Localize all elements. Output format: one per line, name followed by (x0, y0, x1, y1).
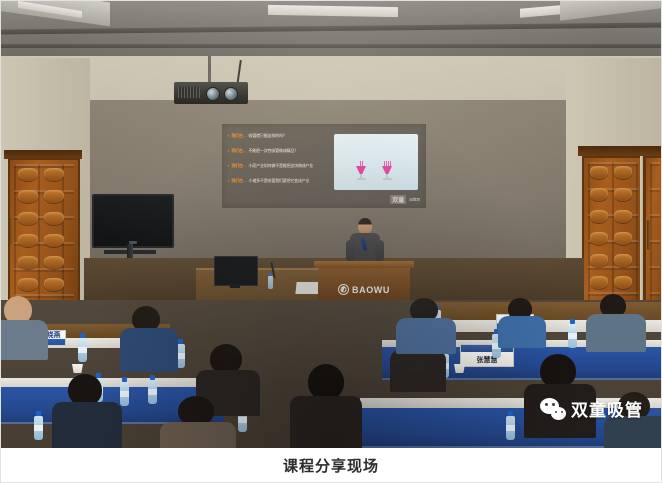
door-left-pill-11 (18, 278, 38, 291)
person-1-body (0, 320, 48, 360)
person-6-body (396, 318, 456, 354)
door-right-pill-12 (614, 276, 632, 289)
conference-room-photo: › 我们在… 吸管就只能这样的吗？ › 我们在… 不能把一次性吸管做成精品？ ›… (0, 0, 662, 448)
drink-cup-single (356, 166, 366, 174)
drink-glass-multi (382, 166, 392, 180)
audience-person-10 (52, 374, 120, 448)
wechat-eye-2 (552, 403, 555, 406)
bullet-tag-1: 我们在… (231, 133, 246, 139)
bullet-arrow-icon-3: › (228, 163, 229, 169)
projection-screen: › 我们在… 吸管就只能这样的吗？ › 我们在… 不能把一次性吸管做成精品？ ›… (222, 124, 426, 208)
speaker-arm-right (375, 240, 384, 262)
door-left-pill-1 (18, 168, 38, 181)
paper-cup-2 (454, 364, 465, 373)
slide-logo-shuangtong: 双童 (390, 195, 406, 204)
door-left-pill-8 (44, 234, 64, 247)
person-9-head (540, 354, 576, 388)
ceiling-projector (174, 82, 248, 104)
ceiling-panel-right (560, 0, 662, 21)
door-left[interactable] (8, 158, 80, 312)
projector-lens-right (224, 87, 238, 101)
wechat-bubble-small (551, 407, 566, 420)
door-right-pill-4 (614, 188, 632, 201)
person-11-body (160, 422, 236, 448)
person-4-body (290, 396, 362, 448)
slide-bullet-4: › 我们在… 小诸多不是吸管我们要把它变成产业 (228, 178, 309, 184)
door-right-pill-6 (614, 210, 632, 223)
person-7-body (498, 316, 546, 348)
door-right-pill-1 (590, 166, 608, 179)
figure-caption-band: 课程分享现场 (0, 448, 662, 483)
water-bottle-6 (120, 382, 129, 406)
door-left-pill-4 (44, 190, 64, 203)
person-8-body (586, 314, 646, 352)
bullet-tag-3: 我们在… (231, 163, 246, 169)
water-bottle-12 (568, 324, 577, 348)
door-right-leaf-2[interactable] (644, 156, 662, 316)
water-bottle-1 (78, 338, 87, 362)
audience-area: 周伟 周伟 张慧慧 李晓燕 王敏 (0, 300, 662, 448)
drink-base-multi (383, 178, 392, 180)
audience-person-11 (160, 396, 234, 448)
door-right-leaf-1[interactable] (582, 156, 644, 316)
desk-monitor (214, 256, 258, 286)
desk-monitor-stand (230, 284, 240, 288)
podium-brand-text: BAOWU (352, 285, 390, 295)
ceiling-beam-2 (0, 44, 662, 48)
ceiling (0, 0, 662, 58)
water-bottle-14 (506, 416, 515, 440)
slide-bullet-2: › 我们在… 不能把一次性吸管做成精品？ (228, 148, 298, 154)
projector-vents (178, 87, 200, 98)
bullet-tag-4: 我们在… (231, 178, 246, 184)
audience-person-4 (290, 364, 360, 448)
bullet-arrow-icon-1: › (228, 133, 229, 139)
water-bottle-7 (148, 380, 157, 404)
bullet-text-3: 小而产业如何做不是能把这块做成产业 (249, 163, 314, 169)
bullet-text-1: 吸管就只能这样的吗？ (249, 133, 287, 139)
audience-person-2 (120, 306, 176, 368)
podium-top-surface (314, 261, 414, 268)
slide-logo-soton: soton (409, 197, 420, 203)
drink-cup-multi (382, 166, 392, 174)
audience-person-8 (588, 294, 644, 346)
door-right-gap (640, 156, 643, 312)
door-right-pill-3 (590, 188, 608, 201)
person-5-body (390, 350, 446, 392)
person-10-body (52, 402, 122, 448)
watermark-text: 双童吸管 (571, 396, 643, 421)
bullet-tag-2: 我们在… (231, 148, 246, 154)
drink-base-single (357, 178, 366, 180)
audience-person-6 (398, 298, 456, 348)
door-left-pill-6 (44, 212, 64, 225)
slide-logo-group: 双童 soton (390, 195, 420, 204)
audience-person-7 (498, 298, 546, 342)
drink-glass-single (356, 166, 366, 180)
bullet-arrow-icon-4: › (228, 178, 229, 184)
slide-bullet-1: › 我们在… 吸管就只能这样的吗？ (228, 133, 287, 139)
wechat-watermark: 双童吸管 (540, 396, 643, 421)
audience-person-1 (0, 296, 48, 356)
article-figure-block: › 我们在… 吸管就只能这样的吗？ › 我们在… 不能把一次性吸管做成精品？ ›… (0, 0, 662, 483)
door-right-pill-10 (614, 254, 632, 267)
door-right-pill-2 (614, 166, 632, 179)
bullet-text-4: 小诸多不是吸管我们要把它变成产业 (249, 178, 310, 184)
person-4-head (308, 364, 344, 400)
door-right2-panel-texture (650, 162, 660, 310)
door-left-pill-3 (18, 190, 38, 203)
door-left-pill-7 (18, 234, 38, 247)
speaker-arm-left (346, 240, 355, 262)
baowu-logo-icon (338, 284, 349, 295)
water-bottle-15 (34, 416, 43, 440)
bullet-arrow-icon-2: › (228, 148, 229, 154)
ceiling-light-strip-2 (268, 5, 398, 17)
door-left-handle[interactable] (9, 218, 12, 244)
wechat-eye-3 (555, 411, 557, 413)
door-right-pill-5 (590, 210, 608, 223)
door-frame-right (578, 146, 662, 156)
figure-caption: 课程分享现场 (283, 455, 379, 476)
projector-mount-pipe (208, 56, 211, 84)
wechat-icon (540, 398, 566, 420)
speaker-head (358, 218, 372, 234)
door-right-handle[interactable] (647, 220, 650, 250)
door-left-pill-9 (18, 256, 38, 269)
paper-cup-1 (72, 364, 83, 373)
door-left-pill-2 (44, 168, 64, 181)
door-right-pill-8 (614, 232, 632, 245)
person-2-body (120, 328, 178, 372)
wechat-eye-4 (561, 411, 563, 413)
projector-lens-left (206, 87, 220, 101)
wechat-eye-1 (545, 403, 548, 406)
door-right-pill-9 (590, 254, 608, 267)
door-right-pill-7 (590, 232, 608, 245)
door-left-pill-12 (44, 278, 64, 291)
podium-brand: BAOWU (318, 284, 410, 295)
door-left-pill-10 (44, 256, 64, 269)
door-left-pill-5 (18, 212, 38, 225)
desk-water-bottle (268, 276, 273, 289)
bullet-text-2: 不能把一次性吸管做成精品？ (249, 148, 298, 154)
door-right-pill-11 (590, 276, 608, 289)
slide-bullet-3: › 我们在… 小而产业如何做不是能把这块做成产业 (228, 163, 313, 169)
slide-product-image (334, 134, 418, 190)
wall-tv-monitor (92, 194, 174, 248)
